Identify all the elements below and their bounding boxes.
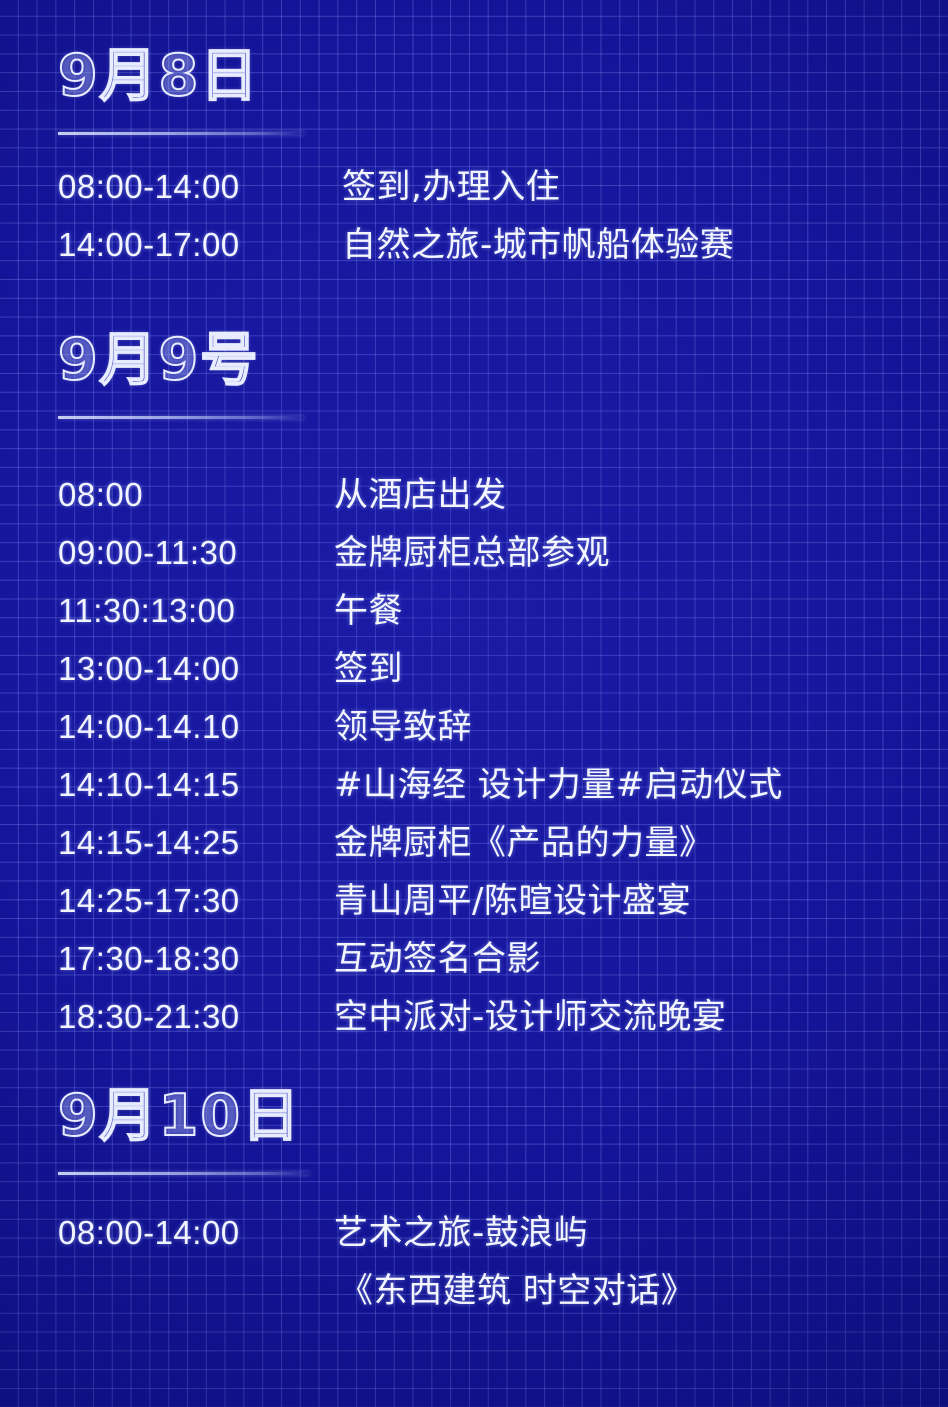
schedule-row: 14:00-14.10 领导致辞 [58, 699, 783, 757]
row-event: #山海经 设计力量#启动仪式 [334, 757, 783, 806]
row-event: 金牌厨柜《产品的力量》 [334, 815, 714, 864]
row-event: 艺术之旅-鼓浪屿 [334, 1205, 588, 1254]
day-heading-sep-9: 9月9号 [58, 332, 783, 389]
row-event: 《东西建筑 时空对话》 [334, 1263, 695, 1312]
schedule-row: 13:00-14:00 签到 [58, 641, 783, 699]
schedule-row: 11:30:13:00 午餐 [58, 583, 783, 641]
schedule-row: 08:00-14:00 签到,办理入住 [58, 159, 734, 217]
row-event: 午餐 [334, 583, 403, 632]
row-time: 08:00 [58, 476, 334, 514]
row-time: 11:30:13:00 [58, 592, 334, 630]
row-event: 互动签名合影 [334, 931, 541, 980]
day-heading-sep-8: 9月8日 [58, 48, 734, 105]
day-divider-sep-8 [58, 132, 304, 135]
row-event: 空中派对-设计师交流晚宴 [334, 989, 726, 1038]
schedule-row: 14:25-17:30 青山周平/陈暄设计盛宴 [58, 873, 783, 931]
schedule-row: 09:00-11:30 金牌厨柜总部参观 [58, 525, 783, 583]
day-heading-sep-10: 9月10日 [58, 1088, 695, 1145]
schedule-rows-sep-9: 08:00 从酒店出发 09:00-11:30 金牌厨柜总部参观 11:30:1… [58, 467, 783, 1047]
schedule-row: 14:10-14:15 #山海经 设计力量#启动仪式 [58, 757, 783, 815]
day-divider-sep-9 [58, 416, 304, 419]
row-time: 08:00-14:00 [58, 168, 342, 206]
row-event: 自然之旅-城市帆船体验赛 [342, 217, 734, 266]
row-time: 08:00-14:00 [58, 1214, 334, 1252]
schedule-rows-sep-10: 08:00-14:00 艺术之旅-鼓浪屿 《东西建筑 时空对话》 [58, 1205, 695, 1321]
schedule-rows-sep-8: 08:00-14:00 签到,办理入住 14:00-17:00 自然之旅-城市帆… [58, 159, 734, 275]
row-event: 签到 [334, 641, 403, 690]
schedule-row: 18:30-21:30 空中派对-设计师交流晚宴 [58, 989, 783, 1047]
row-time: 18:30-21:30 [58, 998, 334, 1036]
row-event: 领导致辞 [334, 699, 472, 748]
row-time: 09:00-11:30 [58, 534, 334, 572]
day-divider-sep-10 [58, 1172, 310, 1175]
row-event: 签到,办理入住 [342, 159, 560, 208]
day-section-sep-9: 9月9号 08:00 从酒店出发 09:00-11:30 金牌厨柜总部参观 11… [58, 332, 783, 1047]
day-section-sep-10: 9月10日 08:00-14:00 艺术之旅-鼓浪屿 《东西建筑 时空对话》 [58, 1088, 695, 1321]
schedule-row: 08:00 从酒店出发 [58, 467, 783, 525]
schedule-row-continuation: 《东西建筑 时空对话》 [58, 1263, 695, 1321]
row-time: 14:00-17:00 [58, 226, 342, 264]
row-time: 14:25-17:30 [58, 882, 334, 920]
schedule-poster: 9月8日 08:00-14:00 签到,办理入住 14:00-17:00 自然之… [0, 0, 948, 1407]
row-time: 17:30-18:30 [58, 940, 334, 978]
row-event: 青山周平/陈暄设计盛宴 [334, 873, 691, 922]
schedule-row: 14:15-14:25 金牌厨柜《产品的力量》 [58, 815, 783, 873]
row-time: 14:00-14.10 [58, 708, 334, 746]
schedule-row: 08:00-14:00 艺术之旅-鼓浪屿 [58, 1205, 695, 1263]
row-time: 14:10-14:15 [58, 766, 334, 804]
row-time: 13:00-14:00 [58, 650, 334, 688]
schedule-row: 14:00-17:00 自然之旅-城市帆船体验赛 [58, 217, 734, 275]
day-section-sep-8: 9月8日 08:00-14:00 签到,办理入住 14:00-17:00 自然之… [58, 48, 734, 275]
row-event: 从酒店出发 [334, 467, 507, 516]
schedule-row: 17:30-18:30 互动签名合影 [58, 931, 783, 989]
row-time: 14:15-14:25 [58, 824, 334, 862]
row-event: 金牌厨柜总部参观 [334, 525, 610, 574]
